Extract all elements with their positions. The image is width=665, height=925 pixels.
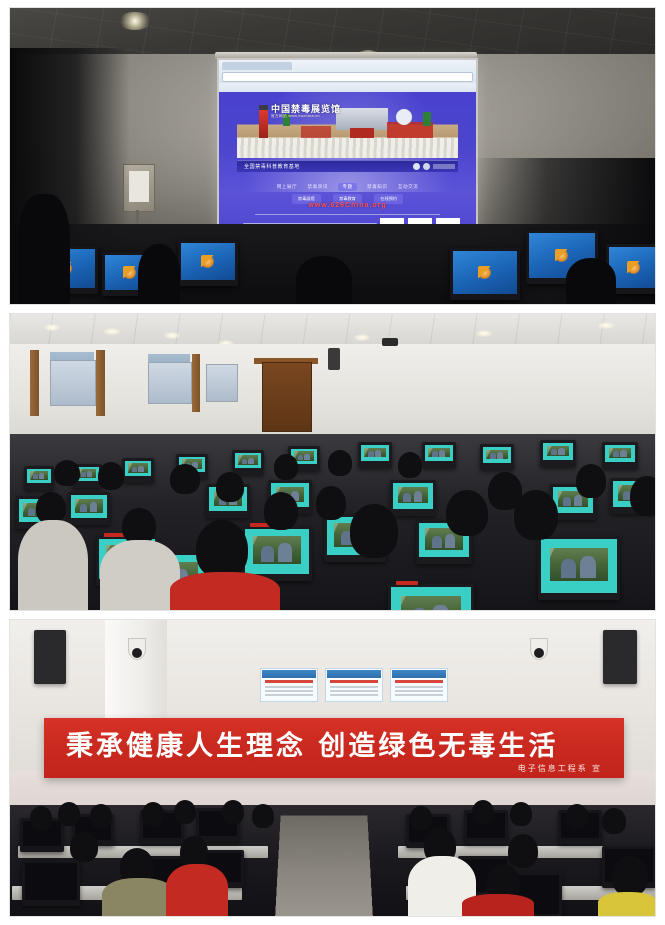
red-propaganda-banner: 秉承健康人生理念 创造绿色无毒生活 电子信息工程系 宣 (44, 718, 624, 778)
divider (255, 214, 440, 215)
hero-red-block (301, 126, 331, 138)
student-head (446, 490, 488, 536)
monitor (422, 442, 456, 468)
speaker-icon (328, 348, 340, 370)
student-head (174, 800, 196, 824)
student-head (602, 808, 626, 834)
student-head (98, 462, 124, 490)
student-head (216, 472, 244, 502)
student-head (264, 492, 298, 530)
student-head (350, 504, 398, 558)
monument-cap-icon (259, 105, 268, 110)
student-head (142, 802, 164, 826)
emblem-icon (413, 163, 420, 170)
dome-camera-icon (530, 638, 548, 660)
speaker-icon (34, 630, 66, 684)
student-head (612, 856, 648, 896)
monitor (178, 240, 238, 286)
browser-chrome (219, 60, 476, 83)
student-head (122, 508, 156, 544)
site-navbar-label: 全国禁毒科普教育基地 (244, 163, 300, 170)
student-body (462, 894, 534, 916)
student-head (70, 832, 98, 862)
wall-poster (325, 668, 383, 702)
photo-collage: 中国禁毒展览馆 官方网站 www.bochina.cn 全国禁毒科普教育基地 网… (0, 0, 665, 925)
center-aisle (275, 815, 373, 916)
hero-foreground (237, 138, 458, 158)
monitor (232, 450, 264, 475)
student-head (196, 520, 248, 578)
site-hero-subtitle: 官方网站 www.bochina.cn (271, 114, 320, 119)
student-head (472, 800, 494, 824)
student-head (170, 464, 200, 494)
site-navbar: 全国禁毒科普教育基地 (237, 160, 458, 172)
monitor (122, 458, 154, 483)
monument-pillar-icon (259, 108, 268, 140)
monitor (538, 536, 620, 600)
window (50, 360, 96, 406)
student-head (576, 464, 606, 498)
site-url-text: www.626China.org (219, 202, 476, 209)
student-head (222, 800, 244, 824)
globe-icon (396, 109, 412, 125)
banner-text: 秉承健康人生理念 创造绿色无毒生活 (66, 724, 610, 763)
wall-column (30, 350, 39, 416)
monitor (22, 860, 80, 906)
dome-camera-icon (128, 638, 146, 660)
banner-signature: 电子信息工程系 宣 (518, 763, 602, 774)
student-head (398, 452, 422, 478)
monitor (68, 492, 110, 525)
student-body (166, 864, 228, 916)
ceiling-light-icon (104, 328, 120, 335)
ceiling-light-icon (598, 322, 614, 329)
window (148, 362, 192, 404)
wall-poster (260, 668, 318, 702)
monitor (390, 480, 436, 516)
monitor (480, 444, 514, 470)
student-body (102, 878, 176, 916)
panel-projector-lecture-room: 中国禁毒展览馆 官方网站 www.bochina.cn 全国禁毒科普教育基地 网… (10, 8, 655, 304)
ceiling-light-icon (164, 332, 180, 339)
person-silhouette (138, 244, 180, 304)
student-head (630, 476, 655, 516)
student-head (410, 806, 432, 830)
student-head (90, 804, 112, 828)
door[interactable] (262, 362, 312, 432)
student-body (170, 572, 280, 610)
monitor (358, 442, 392, 468)
student-head (316, 486, 346, 520)
monitor (24, 466, 54, 490)
ceiling-light-icon (44, 324, 60, 331)
museum-building-icon (336, 108, 388, 130)
ceiling-light-icon (118, 12, 152, 30)
student-head (508, 834, 538, 868)
projector-icon (382, 338, 398, 346)
wall-poster (390, 668, 448, 702)
student-head (328, 450, 352, 476)
browser-address-bar[interactable] (222, 72, 473, 82)
student-head (58, 802, 80, 826)
monitor (540, 440, 576, 467)
student-head (54, 460, 80, 486)
student-body (100, 540, 180, 610)
tree-icon (423, 112, 431, 126)
ceiling-light-icon (476, 330, 492, 337)
student-head (274, 454, 298, 480)
window (206, 364, 238, 402)
student-head (514, 490, 558, 540)
monitor (450, 248, 520, 300)
monitor (388, 584, 474, 610)
person-silhouette (566, 258, 616, 304)
student-head (30, 806, 52, 830)
student-body (18, 520, 88, 610)
emblem-icon (423, 163, 430, 170)
ceiling-light-icon (354, 334, 370, 341)
speaker-icon (603, 630, 637, 684)
navbar-watermark (433, 164, 455, 169)
anti-drug-website: 中国禁毒展览馆 官方网站 www.bochina.cn 全国禁毒科普教育基地 网… (219, 92, 476, 236)
panel-banner-classroom: 秉承健康人生理念 创造绿色无毒生活 电子信息工程系 宣 (10, 620, 655, 916)
browser-bookmark-bar (219, 83, 476, 92)
student-head (252, 804, 274, 828)
panel-computer-lab-full-room: D区 C区 B区 (10, 314, 655, 610)
monitor (602, 442, 638, 469)
wall-column (96, 350, 105, 416)
person-silhouette (296, 256, 352, 304)
browser-tab[interactable] (222, 62, 292, 70)
student-head (566, 804, 588, 828)
person-silhouette (18, 194, 70, 304)
student-body (598, 892, 655, 916)
student-head (510, 802, 532, 826)
wall-column (192, 354, 200, 412)
